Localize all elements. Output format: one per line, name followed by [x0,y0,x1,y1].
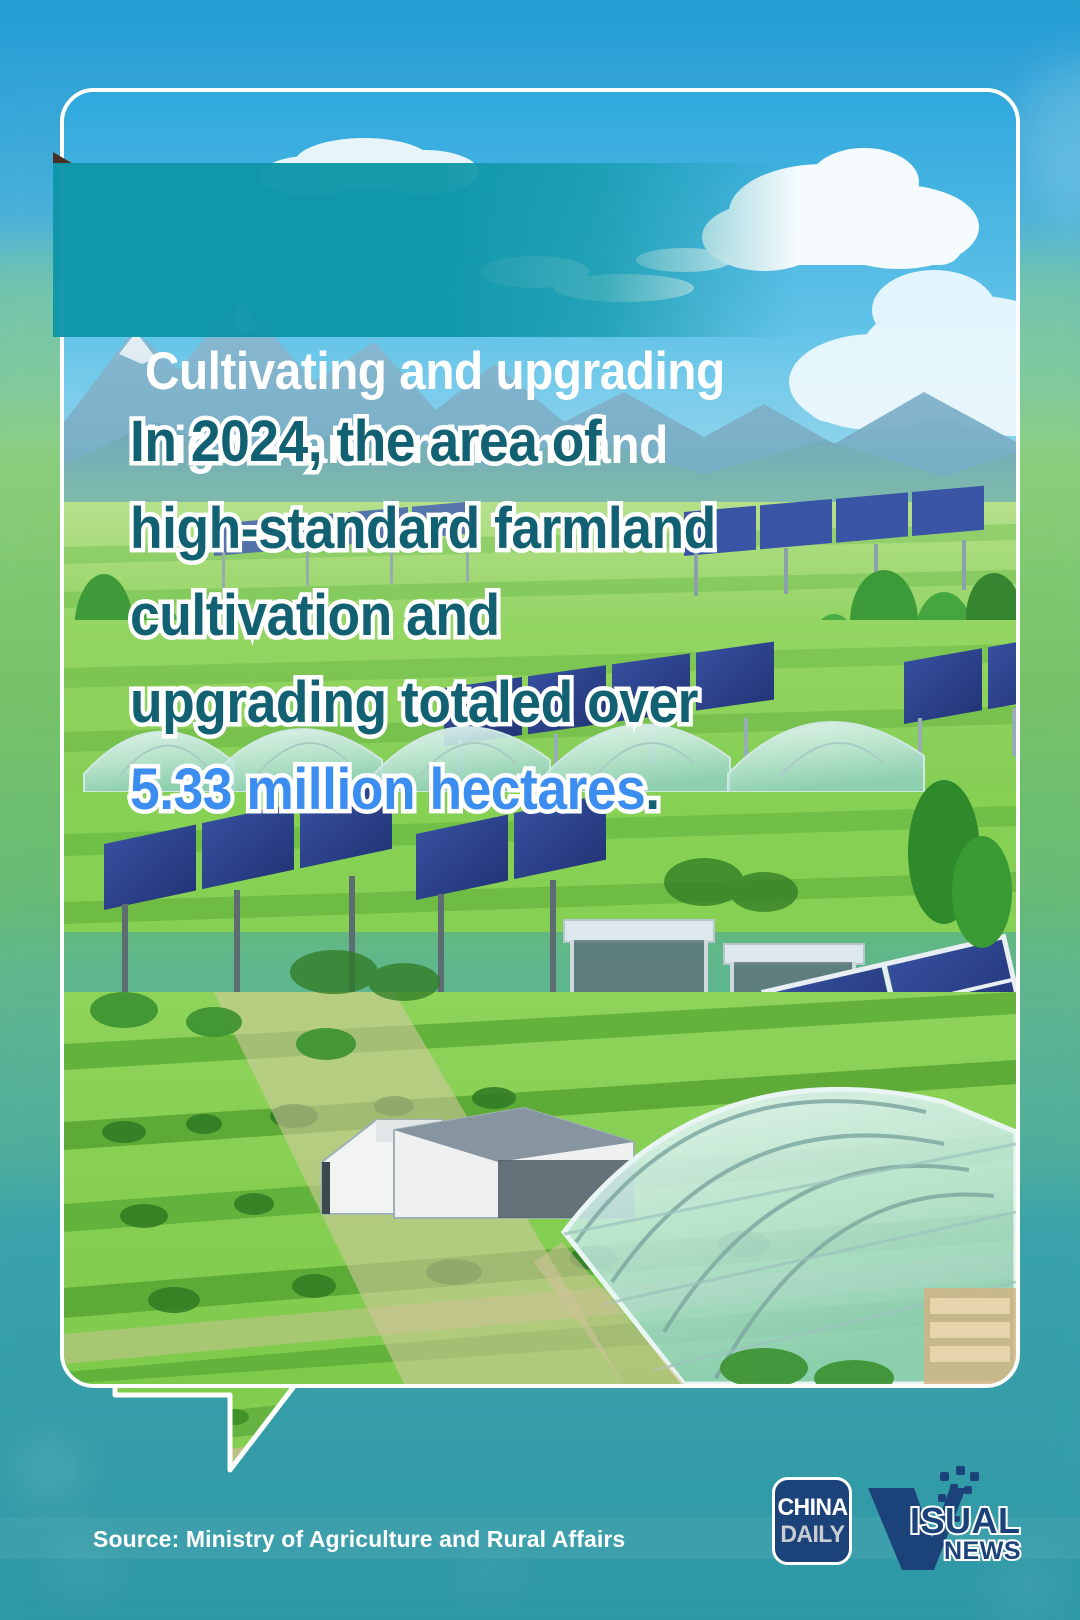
china-daily-logo[interactable]: CHINA DAILY [772,1477,852,1565]
statement-line-1: In 2024, the area of [130,398,829,485]
visual-news-logo[interactable]: ISUAL NEWS [862,1462,1022,1572]
china-daily-line2: DAILY [780,1523,844,1547]
statement-period: . [645,757,659,822]
statement-line-5: 5.33 million hectares. [130,746,829,833]
statement-block: In 2024, the area of high-standard farml… [130,398,829,833]
source-label: Source: Ministry of Agriculture and Rura… [93,1518,625,1560]
statement-line-4: upgrading totaled over [130,659,829,746]
visual-news-news-text: NEWS [944,1537,1021,1566]
statement-line-2: high-standard farmland [130,485,829,572]
statement-line-3: cultivation and [130,572,829,659]
china-daily-line1: CHINA [777,1496,847,1520]
statement-figure: 5.33 million hectares [130,757,645,822]
title-banner: Cultivating and upgrading high-standard … [53,163,798,337]
visual-news-isual-text: ISUAL [910,1500,1021,1542]
